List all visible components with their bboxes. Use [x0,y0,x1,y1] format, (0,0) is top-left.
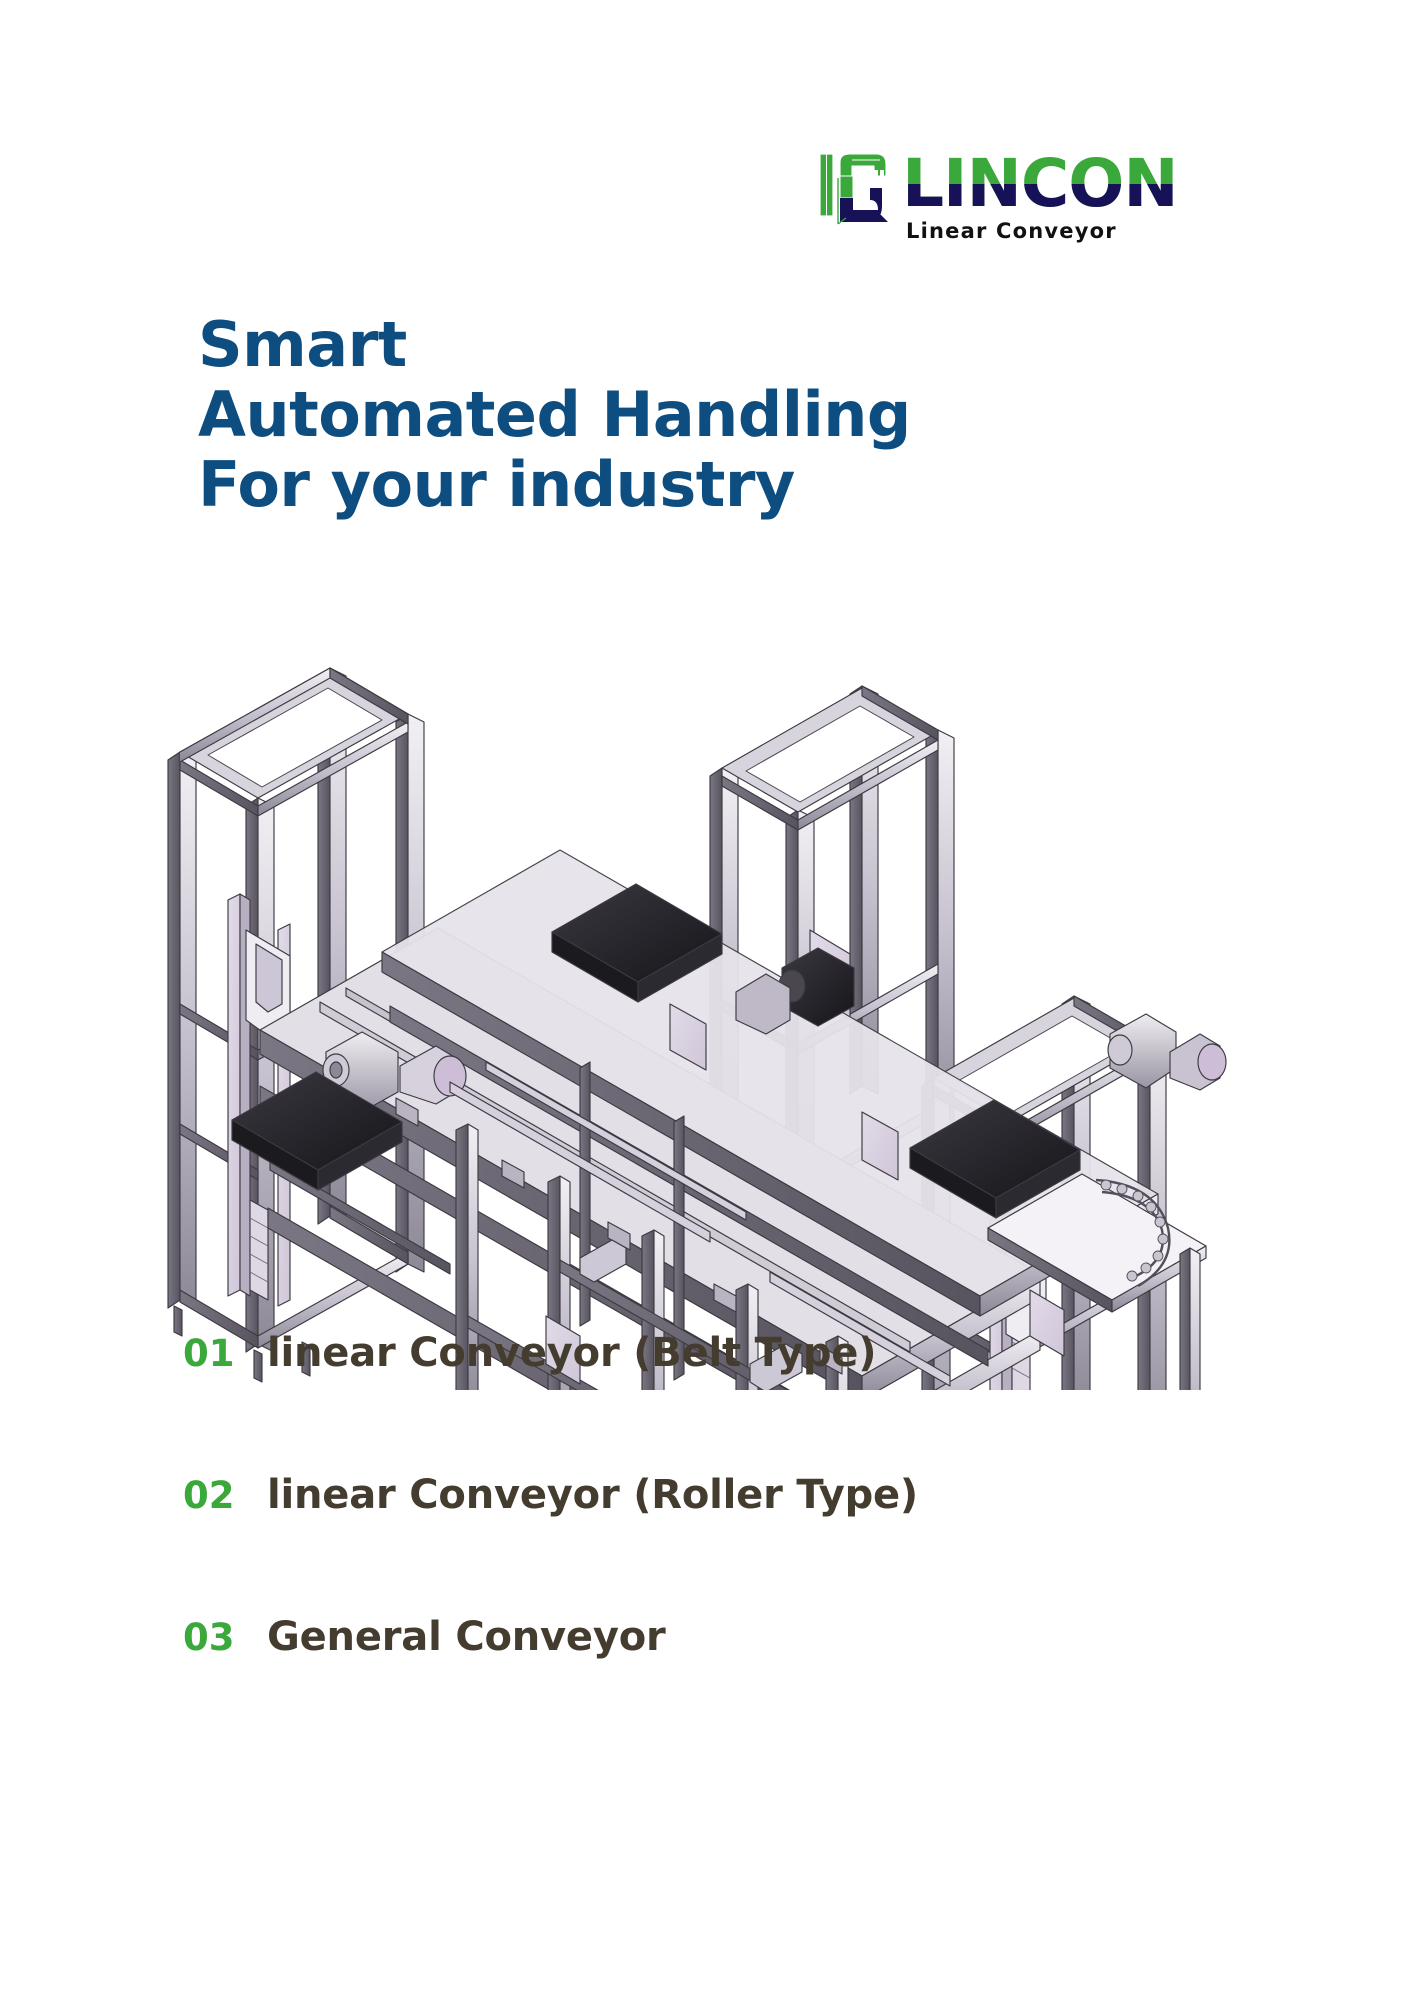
feature-label: linear Conveyor (Belt Type) [267,1330,876,1376]
gear-motor-right [1108,1014,1226,1090]
list-item[interactable]: 01 linear Conveyor (Belt Type) [183,1330,1183,1472]
headline-line-2: Automated Handling [198,380,1178,450]
feature-label: General Conveyor [267,1614,666,1660]
conveyor-cad-svg [150,600,1260,1390]
page-title: Smart Automated Handling For your indust… [198,310,1178,520]
logo-row: LINCON LINCON [818,148,1198,220]
headline-line-1: Smart [198,310,1178,380]
conveyor-system-cad-render [150,600,1260,1390]
feature-number: 01 [183,1332,267,1375]
feature-number: 02 [183,1474,267,1517]
list-item[interactable]: 03 General Conveyor [183,1614,1183,1756]
feature-list: 01 linear Conveyor (Belt Type) 02 linear… [183,1330,1183,1756]
ic-monogram-icon [818,148,900,228]
logo-wordmark: LINCON LINCON [902,148,1178,220]
feature-number: 03 [183,1616,267,1659]
feature-label: linear Conveyor (Roller Type) [267,1472,918,1518]
brand-logo: LINCON LINCON Linear Conveyor [818,148,1198,244]
headline-line-3: For your industry [198,450,1178,520]
list-item[interactable]: 02 linear Conveyor (Roller Type) [183,1472,1183,1614]
logo-tagline: Linear Conveyor [906,219,1117,243]
brochure-cover-page: LINCON LINCON Linear Conveyor Smart Auto… [0,0,1414,2000]
